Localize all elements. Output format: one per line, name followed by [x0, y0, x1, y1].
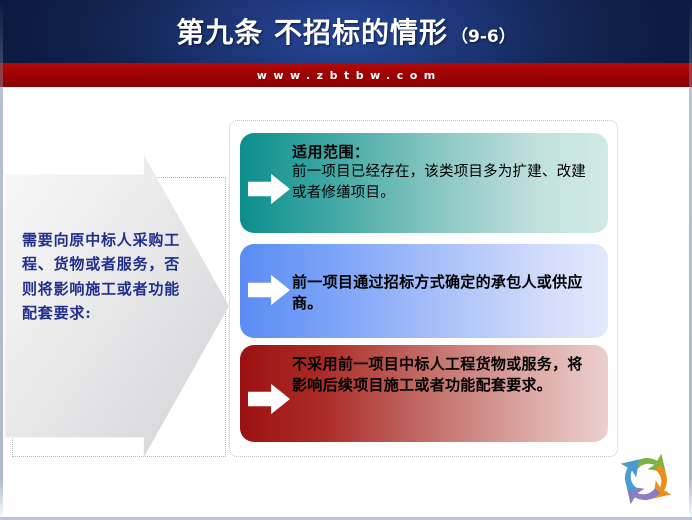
panel-scope-heading: 适用范围：: [292, 142, 596, 162]
cycle-arrow-blue: [621, 459, 639, 493]
left-arrow-text: 需要向原中标人采购工程、货物或者服务，否则将影响施工或者功能配套要求:: [22, 228, 192, 325]
right-arrow-icon: [248, 171, 290, 207]
panel-impact-body: 不采用前一项目中标人工程货物或服务，将影响后续项目施工或者功能配套要求。: [292, 354, 596, 397]
page-title: 第九条 不招标的情形（9-6）: [0, 0, 692, 63]
page-title-main: 第九条 不招标的情形: [176, 11, 448, 51]
panel-scope[interactable]: 适用范围： 前一项目已经存在，该类项目多为扩建、改建或者修缮项目。: [240, 133, 608, 233]
url-band: www.zbtbw.com: [0, 63, 692, 87]
right-arrow-icon: [248, 272, 290, 308]
page-title-sub: （9-6）: [451, 22, 516, 47]
panel-impact[interactable]: 不采用前一项目中标人工程货物或服务，将影响后续项目施工或者功能配套要求。: [240, 345, 608, 442]
header-band: 第九条 不招标的情形（9-6）: [0, 0, 692, 63]
panel-contractor-body: 前一项目通过招标方式确定的承包人或供应商。: [292, 272, 596, 315]
panel-scope-body: 适用范围： 前一项目已经存在，该类项目多为扩建、改建或者修缮项目。: [292, 142, 596, 203]
site-url: www.zbtbw.com: [250, 69, 442, 82]
cycle-arrows-logo: [611, 444, 681, 514]
panel-contractor[interactable]: 前一项目通过招标方式确定的承包人或供应商。: [240, 244, 608, 338]
slide-canvas: 第九条 不招标的情形（9-6） www.zbtbw.com 需要向原中标人采购工…: [0, 0, 692, 520]
panel-contractor-text: 前一项目通过招标方式确定的承包人或供应商。: [292, 272, 596, 315]
panel-impact-text: 不采用前一项目中标人工程货物或服务，将影响后续项目施工或者功能配套要求。: [292, 354, 596, 397]
frame-line-left: [0, 0, 3, 520]
panel-scope-text: 前一项目已经存在，该类项目多为扩建、改建或者修缮项目。: [292, 162, 596, 203]
cycle-center: [638, 471, 653, 486]
right-arrow-icon: [248, 381, 290, 417]
